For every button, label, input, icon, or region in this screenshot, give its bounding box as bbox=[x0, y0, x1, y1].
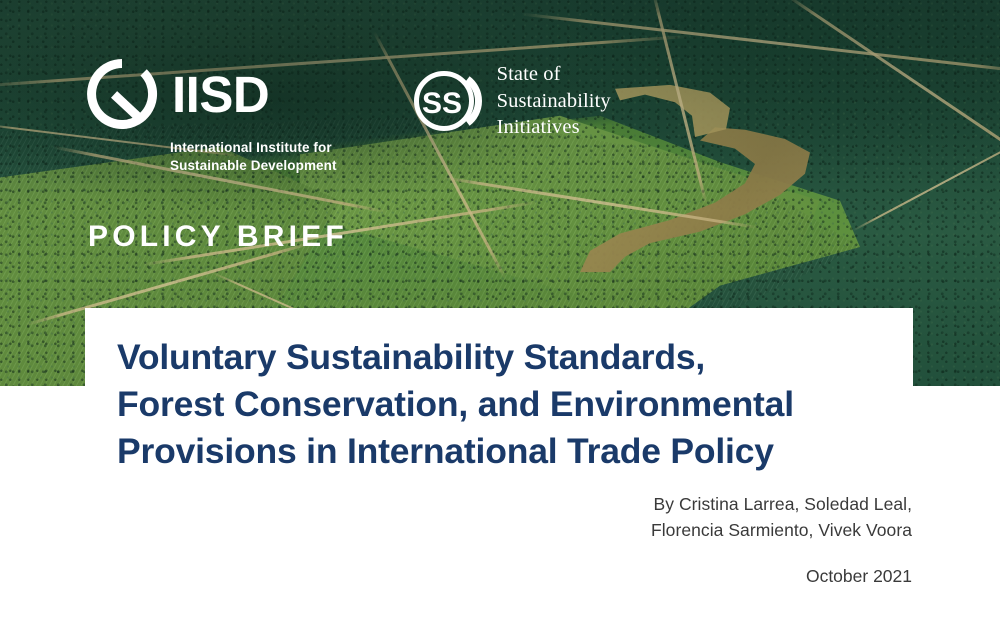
publication-date: October 2021 bbox=[651, 564, 912, 590]
ssi-circle-icon: SS bbox=[411, 65, 483, 137]
title-card: Voluntary Sustainability Standards, Fore… bbox=[85, 308, 913, 498]
iisd-logo: IISD International Institute for Sustain… bbox=[86, 58, 337, 175]
ssi-mark-letters: SS bbox=[422, 87, 462, 120]
iisd-tagline: International Institute for Sustainable … bbox=[170, 139, 337, 175]
iisd-logo-primary: IISD bbox=[86, 58, 269, 130]
document-kicker: POLICY BRIEF bbox=[88, 222, 348, 252]
ssi-logo: SS State of Sustainability Initiatives bbox=[411, 61, 611, 141]
authors-line-1: By Cristina Larrea, Soledad Leal, bbox=[651, 492, 912, 518]
ssi-name-line-3: Initiatives bbox=[497, 114, 611, 141]
policy-brief-cover: IISD International Institute for Sustain… bbox=[0, 0, 1000, 620]
iisd-mark-stem bbox=[111, 91, 143, 121]
iisd-wordmark: IISD bbox=[172, 69, 269, 120]
authors: By Cristina Larrea, Soledad Leal, Floren… bbox=[651, 492, 912, 543]
page-title: Voluntary Sustainability Standards, Fore… bbox=[85, 334, 913, 476]
iisd-tagline-line-1: International Institute for bbox=[170, 139, 337, 157]
ssi-name-line-2: Sustainability bbox=[497, 88, 611, 115]
authors-line-2: Florencia Sarmiento, Vivek Voora bbox=[651, 518, 912, 544]
logo-bar: IISD International Institute for Sustain… bbox=[86, 58, 611, 175]
ssi-name-line-1: State of bbox=[497, 61, 611, 88]
title-line-3: Provisions in International Trade Policy bbox=[117, 428, 879, 475]
ssi-name: State of Sustainability Initiatives bbox=[497, 61, 611, 141]
iisd-broken-ring-icon bbox=[86, 58, 158, 130]
title-line-2: Forest Conservation, and Environmental bbox=[117, 381, 879, 428]
iisd-tagline-line-2: Sustainable Development bbox=[170, 157, 337, 175]
title-line-1: Voluntary Sustainability Standards, bbox=[117, 334, 879, 381]
byline-block: By Cristina Larrea, Soledad Leal, Floren… bbox=[651, 492, 912, 590]
